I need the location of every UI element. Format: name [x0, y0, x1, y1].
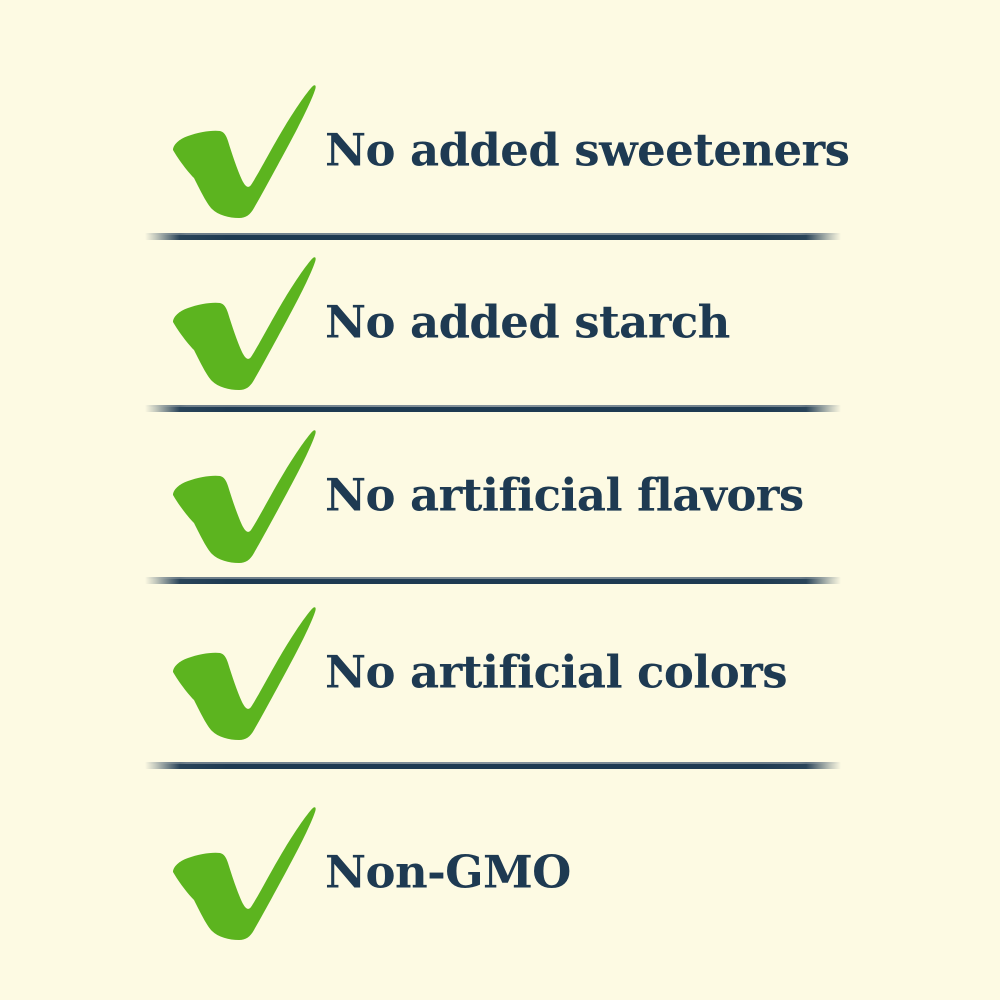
product-claims-panel: No added sweeteners No added starch No a…: [0, 0, 1000, 1000]
claim-row: No artificial flavors: [0, 409, 1000, 581]
claim-row: No artificial colors: [0, 586, 1000, 758]
divider: [145, 577, 841, 584]
green-check-icon: [163, 797, 319, 947]
green-check-icon: [163, 75, 319, 225]
green-check-icon: [163, 420, 319, 570]
claim-label: No artificial flavors: [325, 473, 804, 518]
green-check-icon: [163, 597, 319, 747]
claim-label: No artificial colors: [325, 650, 787, 695]
claim-row: No added starch: [0, 236, 1000, 408]
divider: [145, 762, 841, 769]
green-check-icon: [163, 247, 319, 397]
claim-label: Non-GMO: [325, 850, 571, 895]
claim-label: No added starch: [325, 300, 730, 345]
claim-label: No added sweeteners: [325, 128, 849, 173]
claim-row: No added sweeteners: [0, 64, 1000, 236]
claim-row: Non-GMO: [0, 786, 1000, 958]
